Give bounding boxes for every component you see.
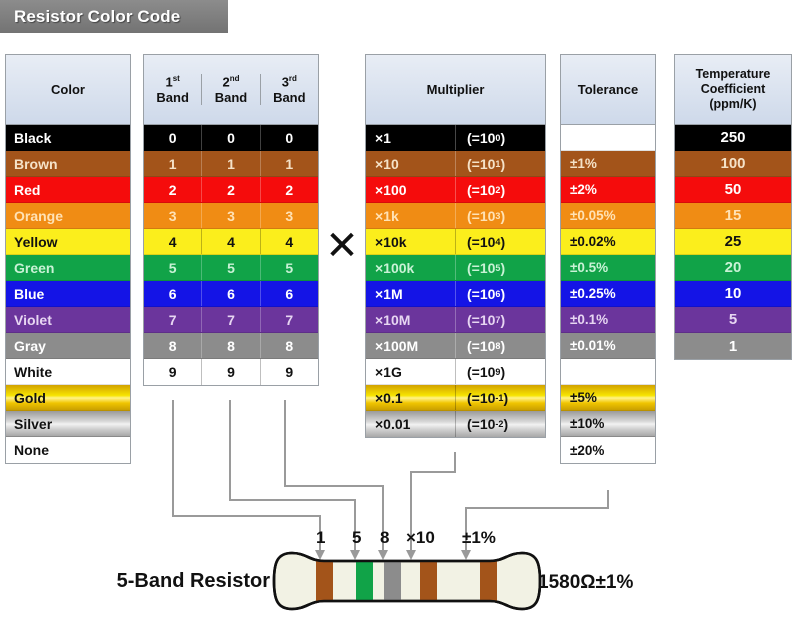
- tempco-row-violet: 5: [675, 307, 791, 333]
- color-name: Gray: [14, 338, 46, 354]
- resistor-caption: 5-Band Resistor: [40, 570, 270, 593]
- tolerance-row-yellow: ±0.02%: [561, 229, 655, 255]
- multiplier-power: (=107): [456, 307, 545, 332]
- tempco-value: 10: [725, 285, 742, 302]
- tolerance-row-violet: ±0.1%: [561, 307, 655, 333]
- band1-digit: 2: [144, 177, 202, 202]
- multiplier-value: ×10k: [366, 229, 456, 254]
- multiplier-row-silver: ×0.01(=10-2): [366, 411, 545, 437]
- page-title: Resistor Color Code: [14, 7, 180, 27]
- multiplier-value: ×100k: [366, 255, 456, 280]
- tolerance-value: ±0.5%: [570, 260, 608, 275]
- tempco-row-black: 250: [675, 125, 791, 151]
- multiplier-row-orange: ×1k(=103): [366, 203, 545, 229]
- band2-digit: 3: [202, 203, 260, 228]
- color-rows: BlackBrownRedOrangeYellowGreenBlueViolet…: [6, 125, 130, 463]
- multiplier-power: (=104): [456, 229, 545, 254]
- color-name: Brown: [14, 156, 58, 172]
- color-name: Yellow: [14, 234, 58, 250]
- band-digit-row-brown: 111: [144, 151, 318, 177]
- band3-digit: 7: [261, 307, 318, 332]
- tempco-row-blue: 10: [675, 281, 791, 307]
- band2-digit: 8: [202, 333, 260, 358]
- color-row-blue: Blue: [6, 281, 130, 307]
- band-rows: 000111222333444555666777888999: [144, 125, 318, 385]
- color-name: Violet: [14, 312, 52, 328]
- band3-digit: 2: [261, 177, 318, 202]
- multiplier-power: (=109): [456, 359, 545, 384]
- band2-digit: 6: [202, 281, 260, 306]
- band3-header: 3rdBand: [261, 74, 318, 105]
- tolerance-value: ±0.25%: [570, 286, 616, 301]
- tempco-rows: 250100501525201051: [675, 125, 791, 359]
- band2-header: 2ndBand: [202, 74, 260, 105]
- tolerance-value: ±2%: [570, 182, 597, 197]
- color-row-white: White: [6, 359, 130, 385]
- multiplier-power: (=10-1): [456, 385, 545, 410]
- resistor-computed-value: 1580Ω±1%: [538, 572, 633, 594]
- band3-digit: 9: [261, 359, 318, 385]
- band2-digit: 1: [202, 151, 260, 176]
- color-row-violet: Violet: [6, 307, 130, 333]
- multiplier-value: ×100: [366, 177, 456, 202]
- multiplier-column: Multiplier ×1(=100)×10(=101)×100(=102)×1…: [365, 54, 546, 438]
- color-name: Red: [14, 182, 40, 198]
- band-digit-row-white: 999: [144, 359, 318, 385]
- color-row-red: Red: [6, 177, 130, 203]
- color-row-gold: Gold: [6, 385, 130, 411]
- band2-digit: 5: [202, 255, 260, 280]
- band3-digit: 8: [261, 333, 318, 358]
- multiplier-power: (=108): [456, 333, 545, 358]
- multiplier-value: ×1G: [366, 359, 456, 384]
- tolerance-row-none: ±20%: [561, 437, 655, 463]
- band1-digit: 8: [144, 333, 202, 358]
- band3-digit: 5: [261, 255, 318, 280]
- color-row-none: None: [6, 437, 130, 463]
- multiplier-value: ×100M: [366, 333, 456, 358]
- color-name: Gold: [14, 390, 46, 406]
- multiplier-row-gray: ×100M(=108): [366, 333, 545, 359]
- tolerance-value: ±20%: [570, 443, 604, 458]
- tolerance-row-blue: ±0.25%: [561, 281, 655, 307]
- color-row-black: Black: [6, 125, 130, 151]
- color-row-silver: Silver: [6, 411, 130, 437]
- band-columns-header: 1stBand 2ndBand 3rdBand: [144, 55, 318, 125]
- resistor-illustration: [272, 545, 542, 617]
- band1-digit: 9: [144, 359, 202, 385]
- band3-digit: 0: [261, 125, 318, 150]
- band-digit-row-red: 222: [144, 177, 318, 203]
- band1-digit: 4: [144, 229, 202, 254]
- tempco-value: 250: [720, 129, 745, 146]
- color-row-green: Green: [6, 255, 130, 281]
- tolerance-value: ±0.1%: [570, 312, 608, 327]
- tolerance-value: ±0.05%: [570, 208, 616, 223]
- tempco-row-yellow: 25: [675, 229, 791, 255]
- band-digit-columns: 1stBand 2ndBand 3rdBand 0001112223334445…: [143, 54, 319, 386]
- color-name: Black: [14, 130, 51, 146]
- multiplier-value: ×10: [366, 151, 456, 176]
- band-digit-row-violet: 777: [144, 307, 318, 333]
- band-digit-row-orange: 333: [144, 203, 318, 229]
- band1-digit: 7: [144, 307, 202, 332]
- color-row-gray: Gray: [6, 333, 130, 359]
- tolerance-value: ±5%: [570, 390, 597, 405]
- band-digit-row-black: 000: [144, 125, 318, 151]
- band2-digit: 2: [202, 177, 260, 202]
- band3-digit: 4: [261, 229, 318, 254]
- band2-digit: 0: [202, 125, 260, 150]
- tempco-column: Temperature Coefficient (ppm/K) 25010050…: [674, 54, 792, 360]
- multiplier-power: (=103): [456, 203, 545, 228]
- tolerance-column-header: Tolerance: [561, 55, 655, 125]
- color-column: Color BlackBrownRedOrangeYellowGreenBlue…: [5, 54, 131, 464]
- multiplier-value: ×0.1: [366, 385, 456, 410]
- tolerance-value: ±0.02%: [570, 234, 616, 249]
- multiplier-value: ×1: [366, 125, 456, 150]
- tolerance-row-red: ±2%: [561, 177, 655, 203]
- color-name: None: [14, 442, 49, 458]
- color-name: Blue: [14, 286, 44, 302]
- color-name: White: [14, 364, 52, 380]
- tempco-value: 1: [729, 338, 737, 355]
- tempco-column-header: Temperature Coefficient (ppm/K): [675, 55, 791, 125]
- multiply-icon: ✕: [320, 224, 364, 268]
- color-name: Orange: [14, 208, 63, 224]
- band-digit-row-blue: 666: [144, 281, 318, 307]
- multiplier-power: (=102): [456, 177, 545, 202]
- tolerance-row-silver: ±10%: [561, 411, 655, 437]
- band1-digit: 1: [144, 151, 202, 176]
- band2-digit: 7: [202, 307, 260, 332]
- multiplier-row-gold: ×0.1(=10-1): [366, 385, 545, 411]
- multiplier-row-yellow: ×10k(=104): [366, 229, 545, 255]
- tempco-row-orange: 15: [675, 203, 791, 229]
- color-row-yellow: Yellow: [6, 229, 130, 255]
- color-column-header: Color: [6, 55, 130, 125]
- tempco-value: 100: [720, 155, 745, 172]
- band2-digit: 4: [202, 229, 260, 254]
- tolerance-rows: ±1%±2%±0.05%±0.02%±0.5%±0.25%±0.1%±0.01%…: [561, 125, 655, 463]
- multiplier-value: ×1k: [366, 203, 456, 228]
- tolerance-row-green: ±0.5%: [561, 255, 655, 281]
- band3-digit: 3: [261, 203, 318, 228]
- tempco-row-gray: 1: [675, 333, 791, 359]
- multiplier-row-violet: ×10M(=107): [366, 307, 545, 333]
- tolerance-row-gold: ±5%: [561, 385, 655, 411]
- multiplier-power: (=101): [456, 151, 545, 176]
- tolerance-row-white: [561, 359, 655, 385]
- band1-digit: 5: [144, 255, 202, 280]
- tolerance-value: ±1%: [570, 156, 597, 171]
- multiplier-power: (=10-2): [456, 411, 545, 437]
- multiplier-row-black: ×1(=100): [366, 125, 545, 151]
- tolerance-value: ±10%: [570, 416, 604, 431]
- tempco-row-green: 20: [675, 255, 791, 281]
- band1-header: 1stBand: [144, 74, 202, 105]
- multiplier-value: ×0.01: [366, 411, 456, 437]
- tempco-row-red: 50: [675, 177, 791, 203]
- tempco-value: 20: [725, 259, 742, 276]
- band1-digit: 6: [144, 281, 202, 306]
- tempco-value: 15: [725, 207, 742, 224]
- tolerance-row-brown: ±1%: [561, 151, 655, 177]
- multiplier-row-white: ×1G(=109): [366, 359, 545, 385]
- multiplier-rows: ×1(=100)×10(=101)×100(=102)×1k(=103)×10k…: [366, 125, 545, 437]
- multiplier-power: (=106): [456, 281, 545, 306]
- tempco-value: 5: [729, 311, 737, 328]
- tolerance-value: ±0.01%: [570, 338, 616, 353]
- multiplier-row-green: ×100k(=105): [366, 255, 545, 281]
- band-digit-row-yellow: 444: [144, 229, 318, 255]
- tempco-row-brown: 100: [675, 151, 791, 177]
- multiplier-value: ×10M: [366, 307, 456, 332]
- tolerance-row-gray: ±0.01%: [561, 333, 655, 359]
- multiplier-row-brown: ×10(=101): [366, 151, 545, 177]
- color-name: Green: [14, 260, 54, 276]
- multiplier-row-blue: ×1M(=106): [366, 281, 545, 307]
- band1-digit: 0: [144, 125, 202, 150]
- tempco-value: 25: [725, 233, 742, 250]
- color-row-orange: Orange: [6, 203, 130, 229]
- page-title-bar: Resistor Color Code: [0, 0, 228, 33]
- band3-digit: 6: [261, 281, 318, 306]
- color-name: Silver: [14, 416, 52, 432]
- multiplier-row-red: ×100(=102): [366, 177, 545, 203]
- multiplier-value: ×1M: [366, 281, 456, 306]
- tolerance-row-orange: ±0.05%: [561, 203, 655, 229]
- band1-digit: 3: [144, 203, 202, 228]
- tempco-value: 50: [725, 181, 742, 198]
- band3-digit: 1: [261, 151, 318, 176]
- band-digit-row-green: 555: [144, 255, 318, 281]
- tolerance-column: Tolerance ±1%±2%±0.05%±0.02%±0.5%±0.25%±…: [560, 54, 656, 464]
- band2-digit: 9: [202, 359, 260, 385]
- tolerance-row-black: [561, 125, 655, 151]
- multiplier-column-header: Multiplier: [366, 55, 545, 125]
- multiplier-power: (=105): [456, 255, 545, 280]
- multiplier-power: (=100): [456, 125, 545, 150]
- color-row-brown: Brown: [6, 151, 130, 177]
- band-digit-row-gray: 888: [144, 333, 318, 359]
